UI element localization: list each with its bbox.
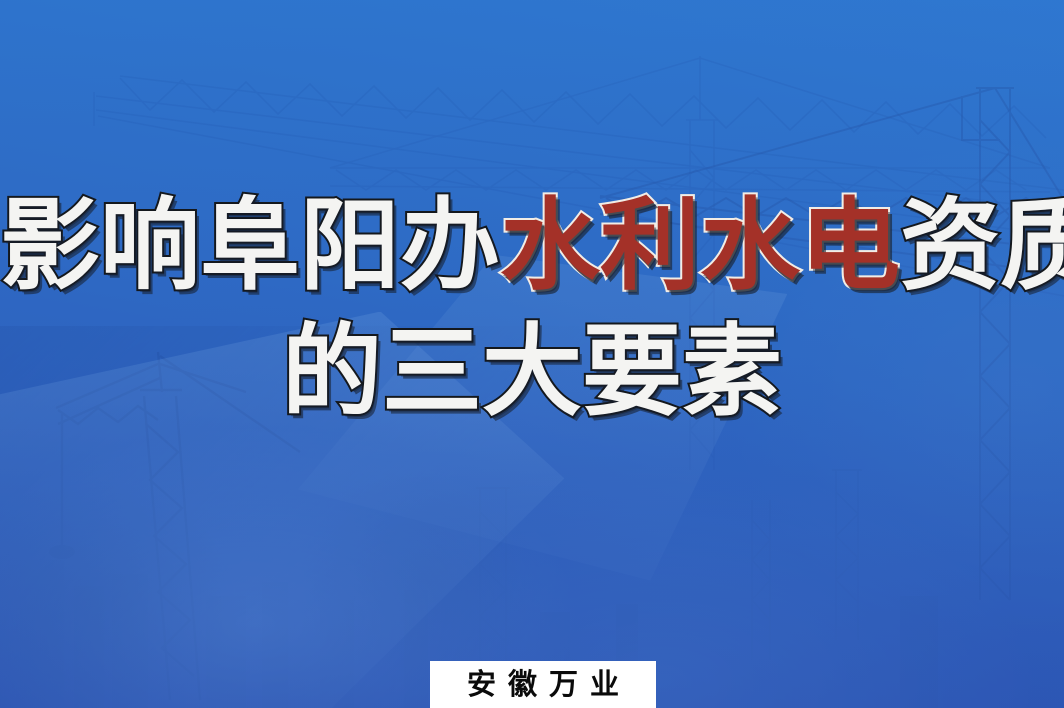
brand-badge-label: 安徽万业 [455,670,631,699]
headline-seg-4-white: 的三大要素 [282,313,782,430]
headline-line-2: 的三大要素 [0,322,1064,422]
headline: 影响阜阳办水利水电资质 的三大要素 [0,196,1064,422]
headline-seg-1-white: 影响阜阳办 [0,187,500,304]
brand-badge: 安徽万业 [430,661,656,708]
headline-seg-2-red: 水利水电 [500,187,900,304]
headline-seg-3-white: 资质 [900,187,1064,304]
headline-line-1: 影响阜阳办水利水电资质 [0,196,1064,296]
poster-canvas: 影响阜阳办水利水电资质 的三大要素 安徽万业 [0,0,1064,708]
